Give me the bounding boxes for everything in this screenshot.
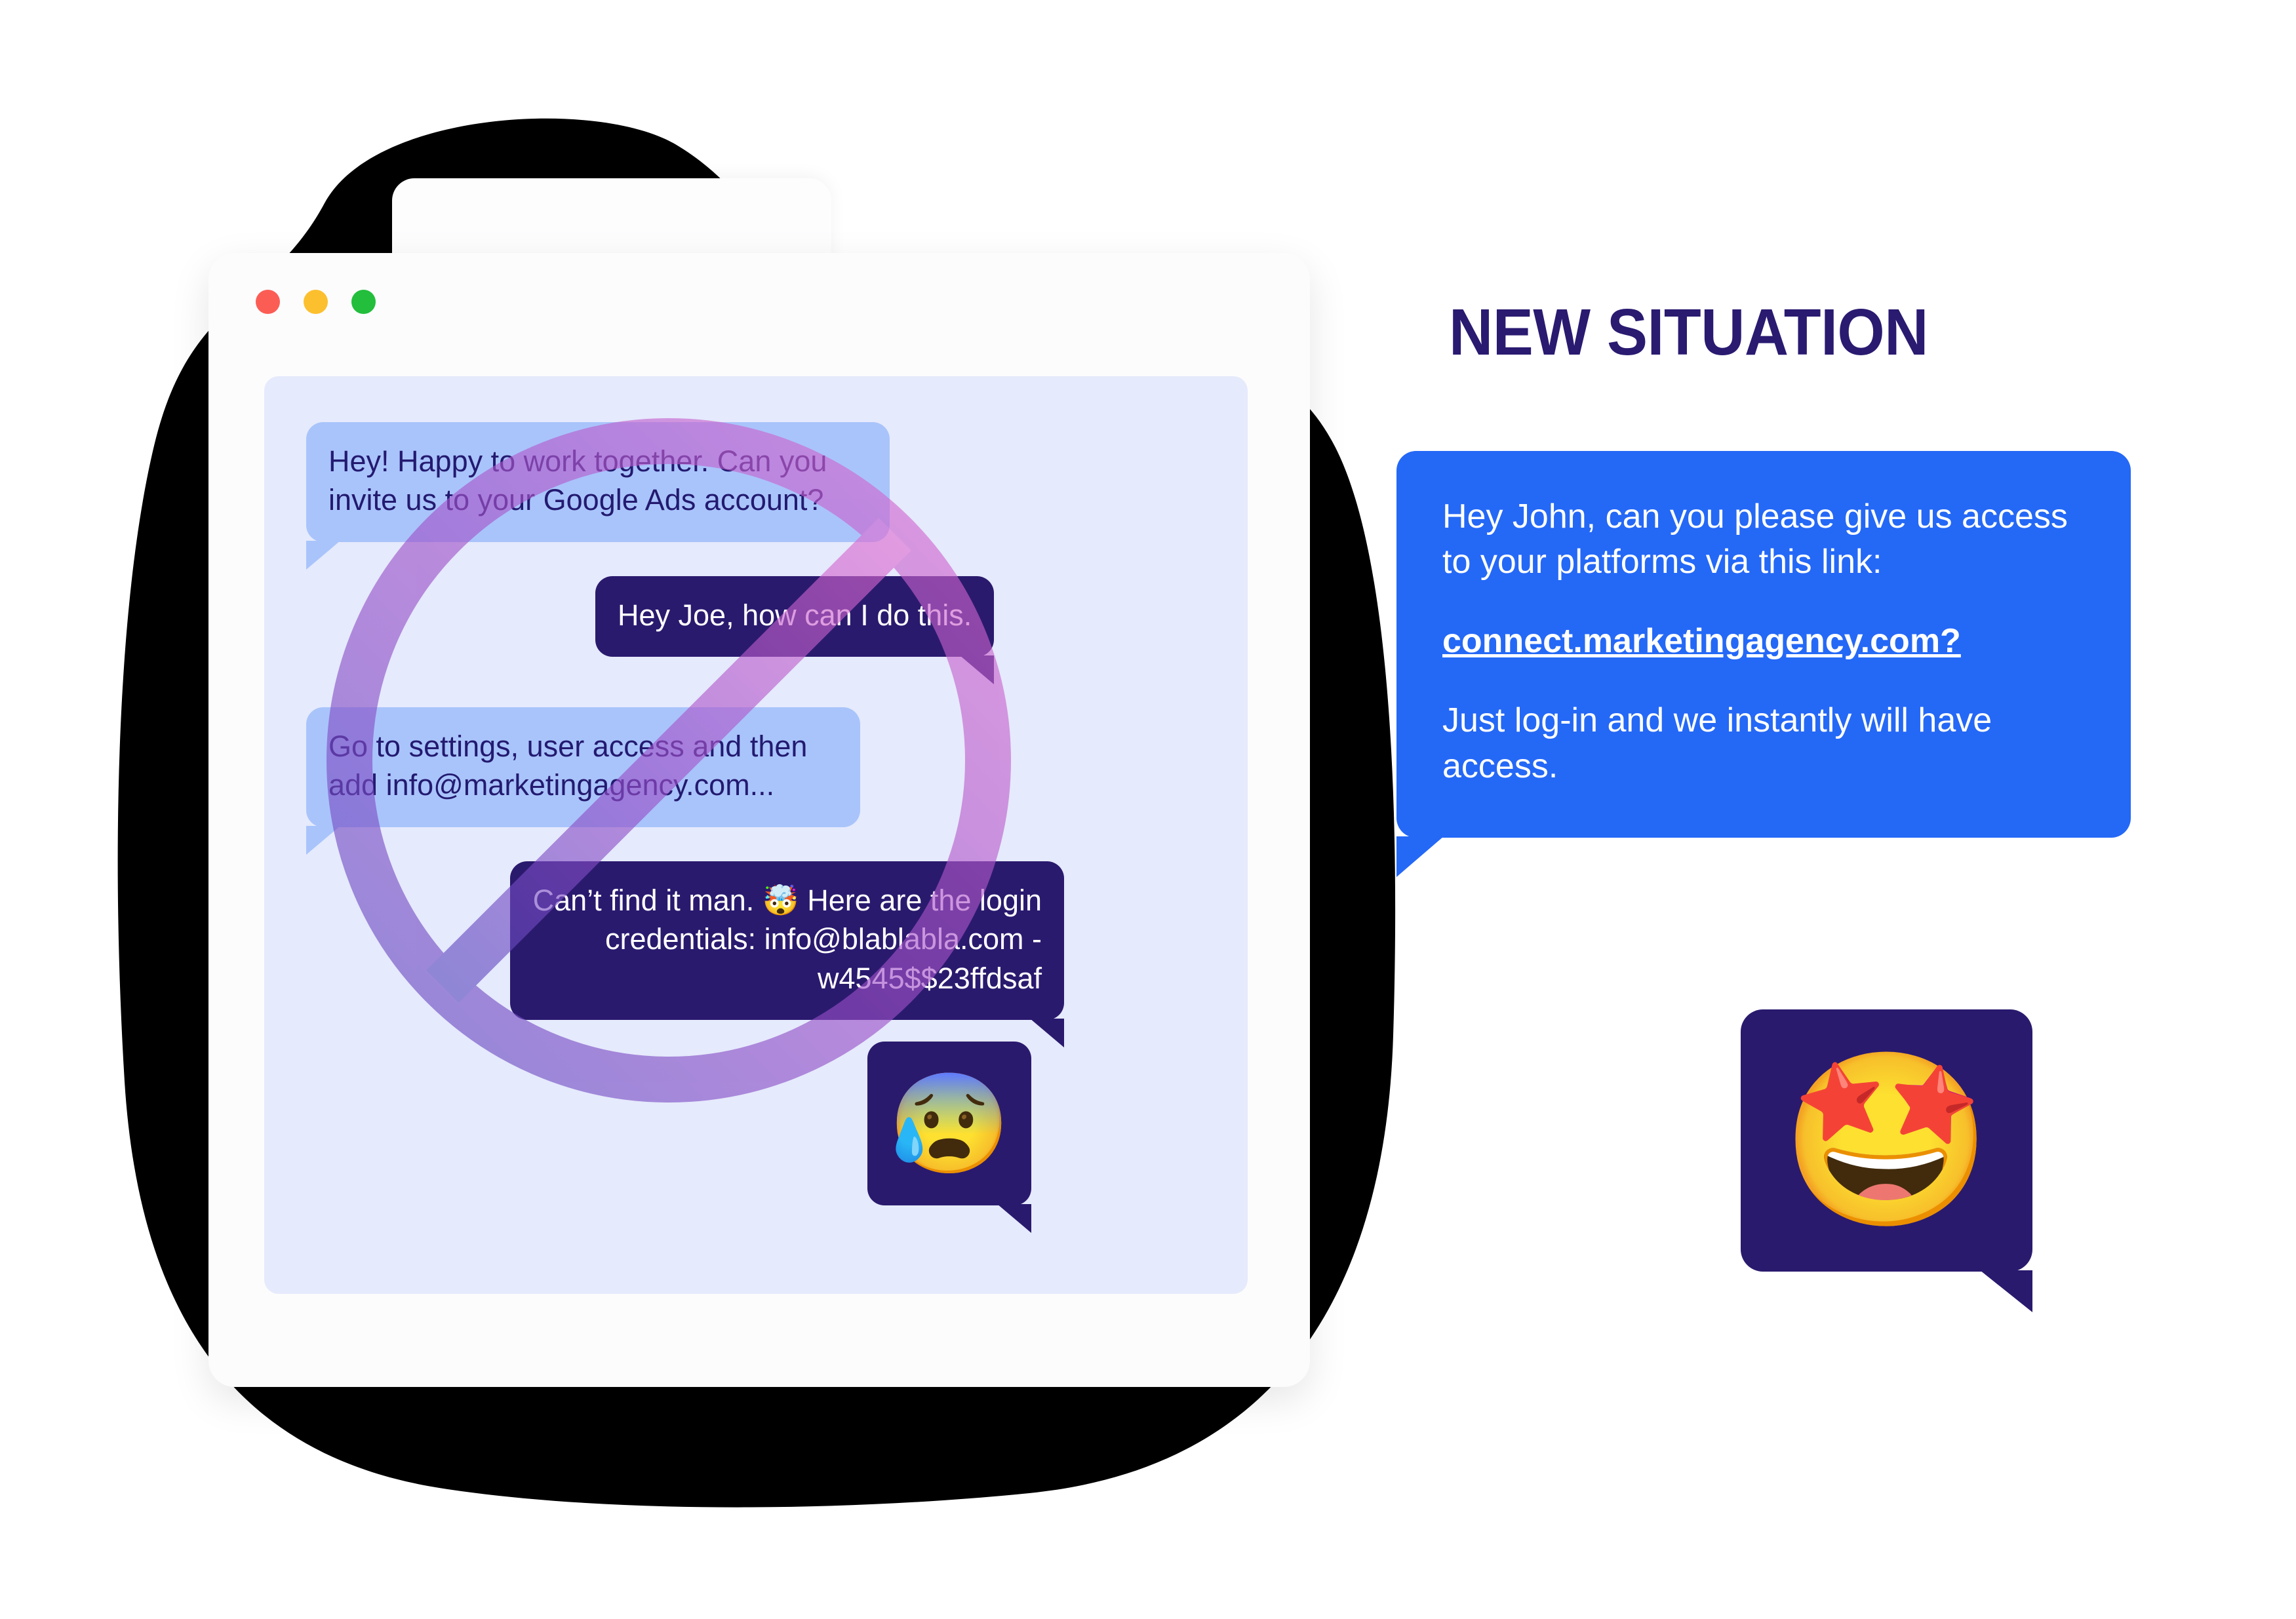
close-window-button[interactable]	[256, 290, 280, 314]
chat-conversation: Hey! Happy to work together. Can you inv…	[264, 376, 1248, 1294]
browser-titlebar	[208, 253, 1310, 378]
new-situation-panel: NEW SITUATION Hey John, can you please g…	[1442, 0, 2296, 1619]
chat-message-outgoing: Can’t find it man. 🤯 Here are the login …	[510, 861, 1064, 1020]
old-situation-panel: OLD SITUATION Hey! Happy to work togethe…	[0, 0, 1475, 1619]
new-bubble-paragraph-2: Just log-in and we instantly will have a…	[1442, 698, 2085, 789]
paragraph-spacer	[1442, 664, 2085, 698]
new-situation-emoji-bubble: 🤩	[1741, 1009, 2032, 1272]
window-controls	[256, 290, 376, 314]
illustration-canvas: OLD SITUATION Hey! Happy to work togethe…	[0, 0, 2296, 1619]
message-bubble-text: Go to settings, user access and then add…	[306, 707, 860, 827]
star-struck-icon: 🤩	[1781, 1055, 1993, 1226]
chat-message-incoming: Go to settings, user access and then add…	[306, 707, 860, 827]
message-bubble-text: Can’t find it man. 🤯 Here are the login …	[510, 861, 1064, 1020]
message-bubble-text: Hey Joe, how can I do this.	[595, 576, 994, 657]
maximize-window-button[interactable]	[351, 290, 376, 314]
connect-link[interactable]: connect.marketingagency.com?	[1442, 619, 1961, 664]
message-bubble-text: Hey! Happy to work together. Can you inv…	[306, 422, 890, 542]
minimize-window-button[interactable]	[304, 290, 328, 314]
chat-message-incoming: Hey! Happy to work together. Can you inv…	[306, 422, 890, 542]
anxious-face-with-sweat-icon: 😰	[888, 1074, 1011, 1173]
chat-message-outgoing-emoji: 😰	[867, 1042, 1031, 1205]
new-situation-message-bubble: Hey John, can you please give us access …	[1396, 451, 2131, 838]
message-bubble-emoji: 😰	[867, 1042, 1031, 1205]
browser-window-card: Hey! Happy to work together. Can you inv…	[208, 253, 1310, 1387]
paragraph-spacer	[1442, 585, 2085, 619]
new-bubble-paragraph-1: Hey John, can you please give us access …	[1442, 494, 2085, 585]
new-situation-heading: NEW SITUATION	[1449, 295, 1928, 370]
chat-message-outgoing: Hey Joe, how can I do this.	[595, 576, 1002, 657]
